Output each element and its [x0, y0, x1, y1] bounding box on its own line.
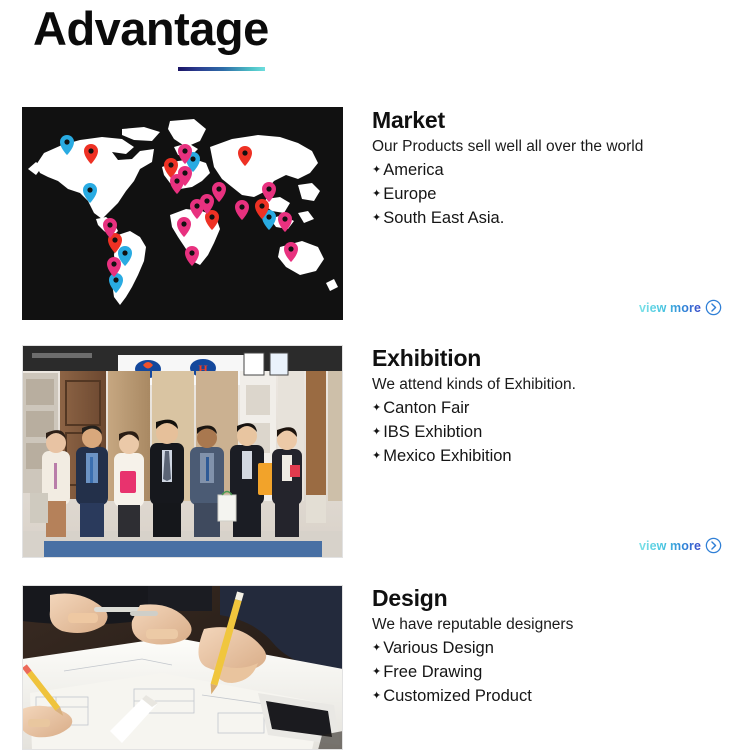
advantage-page: Advantage — [0, 0, 750, 750]
list-item-label: Canton Fair — [383, 397, 469, 421]
exhibition-bullet-list: ✦ Canton Fair ✦ IBS Exhibtion ✦ Mexico E… — [372, 397, 732, 469]
list-item: ✦ Free Drawing — [372, 661, 732, 685]
list-item: ✦ Mexico Exhibition — [372, 445, 732, 469]
list-item: ✦ Canton Fair — [372, 397, 732, 421]
list-item-label: Mexico Exhibition — [383, 445, 511, 469]
diamond-bullet-icon: ✦ — [372, 165, 381, 176]
design-bullet-list: ✦ Various Design ✦ Free Drawing ✦ Custom… — [372, 637, 732, 709]
page-title: Advantage — [33, 2, 269, 56]
list-item: ✦ Europe — [372, 183, 732, 207]
chevron-right-circle-icon — [705, 537, 722, 554]
market-copy: Market Our Products sell well all over t… — [372, 107, 732, 231]
list-item-label: Various Design — [383, 637, 494, 661]
world-map-image — [22, 107, 343, 320]
list-item: ✦ America — [372, 159, 732, 183]
section-market: Market Our Products sell well all over t… — [0, 107, 750, 320]
section-design: Design We have reputable designers ✦ Var… — [0, 585, 750, 750]
list-item: ✦ IBS Exhibtion — [372, 421, 732, 445]
section-lead-market: Our Products sell well all over the worl… — [372, 136, 732, 158]
diamond-bullet-icon: ✦ — [372, 213, 381, 224]
diamond-bullet-icon: ✦ — [372, 427, 381, 438]
list-item-label: Customized Product — [383, 685, 532, 709]
exhibition-copy: Exhibition We attend kinds of Exhibition… — [372, 345, 732, 469]
design-desk-photo — [22, 585, 343, 750]
section-title-exhibition: Exhibition — [372, 345, 732, 373]
diamond-bullet-icon: ✦ — [372, 691, 381, 702]
list-item: ✦ Various Design — [372, 637, 732, 661]
list-item: ✦ Customized Product — [372, 685, 732, 709]
list-item-label: IBS Exhibtion — [383, 421, 482, 445]
diamond-bullet-icon: ✦ — [372, 667, 381, 678]
world-map-svg — [22, 107, 343, 320]
list-item-label: America — [383, 159, 444, 183]
photo-border — [22, 345, 343, 558]
diamond-bullet-icon: ✦ — [372, 451, 381, 462]
market-bullet-list: ✦ America ✦ Europe ✦ South East Asia. — [372, 159, 732, 231]
view-more-label: view more — [639, 539, 701, 553]
diamond-bullet-icon: ✦ — [372, 189, 381, 200]
view-more-link-market[interactable]: view more — [639, 299, 722, 316]
diamond-bullet-icon: ✦ — [372, 643, 381, 654]
design-copy: Design We have reputable designers ✦ Var… — [372, 585, 732, 709]
view-more-label: view more — [639, 301, 701, 315]
section-title-market: Market — [372, 107, 732, 135]
chevron-right-circle-icon — [705, 299, 722, 316]
list-item-label: South East Asia. — [383, 207, 504, 231]
exhibition-booth-photo: H — [22, 345, 343, 558]
list-item-label: Europe — [383, 183, 436, 207]
section-lead-design: We have reputable designers — [372, 614, 732, 636]
section-title-design: Design — [372, 585, 732, 613]
list-item-label: Free Drawing — [383, 661, 482, 685]
section-lead-exhibition: We attend kinds of Exhibition. — [372, 374, 732, 396]
section-exhibition: H — [0, 345, 750, 558]
diamond-bullet-icon: ✦ — [372, 403, 381, 414]
photo-border — [22, 585, 343, 750]
list-item: ✦ South East Asia. — [372, 207, 732, 231]
view-more-link-exhibition[interactable]: view more — [639, 537, 722, 554]
title-underline-accent — [178, 67, 265, 71]
